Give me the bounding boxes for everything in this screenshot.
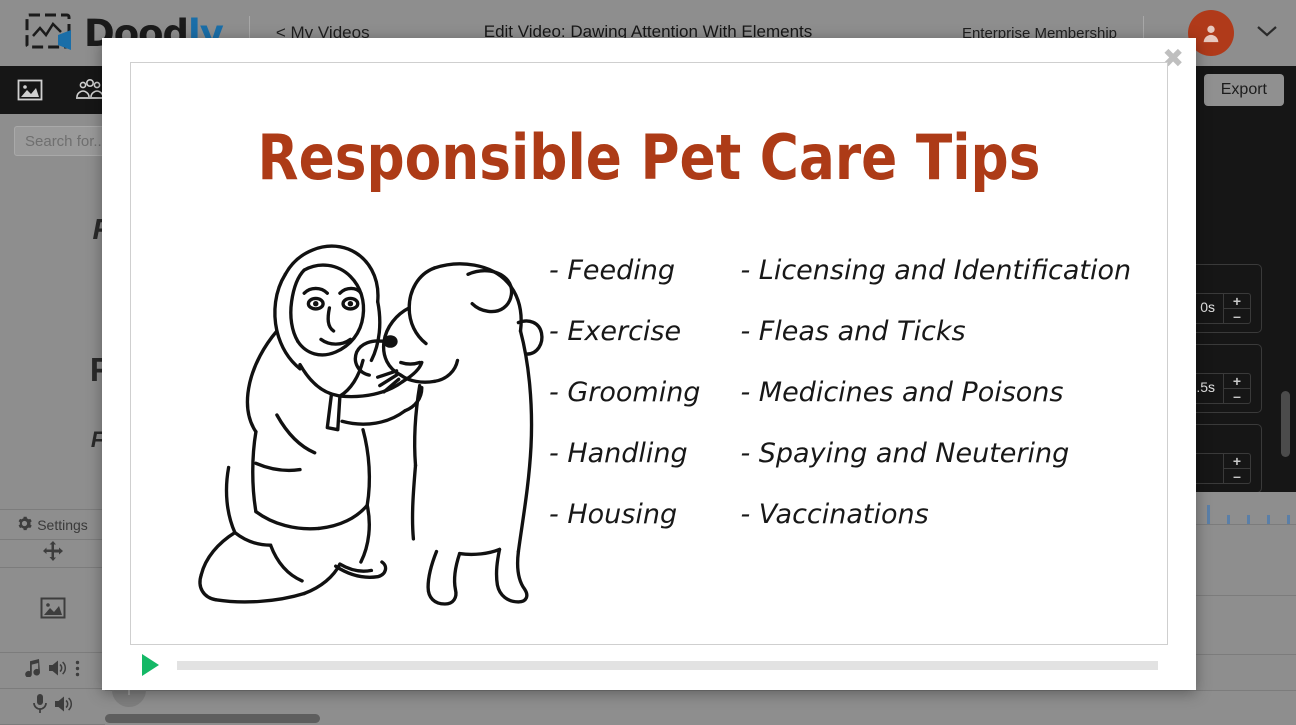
slide-title: Responsible Pet Care Tips xyxy=(204,121,1095,194)
settings-label: Settings xyxy=(37,517,88,533)
move-handle[interactable] xyxy=(0,540,105,568)
list-item: - Housing xyxy=(549,499,700,530)
list-item: - Grooming xyxy=(549,377,700,408)
music-track-row[interactable] xyxy=(0,653,105,689)
stepper-buttons: + – xyxy=(1223,373,1251,404)
preview-modal: ✖ Responsible Pet Care Tips xyxy=(102,38,1196,690)
export-button[interactable]: Export xyxy=(1204,74,1284,106)
chevron-down-icon[interactable] xyxy=(1256,24,1278,43)
move-arrows-icon xyxy=(43,541,63,566)
ruler-tick xyxy=(1227,515,1230,524)
increment-button[interactable]: + xyxy=(1223,453,1251,468)
ruler-tick xyxy=(1207,505,1210,524)
tips-lists: - Feeding - Exercise - Grooming - Handli… xyxy=(549,255,1157,530)
list-item: - Feeding xyxy=(549,255,700,286)
list-item: - Vaccinations xyxy=(740,499,1131,530)
panel-scrollbar[interactable] xyxy=(1281,391,1290,457)
increment-button[interactable]: + xyxy=(1223,373,1251,388)
image-icon xyxy=(40,597,66,624)
stepper-buttons: + – xyxy=(1223,453,1251,484)
list-item: - Spaying and Neutering xyxy=(740,438,1131,469)
more-options-icon[interactable] xyxy=(75,660,80,682)
ruler-tick xyxy=(1247,515,1250,524)
decrement-button[interactable]: – xyxy=(1223,468,1251,484)
stepper-buttons: + – xyxy=(1223,293,1251,324)
progress-bar[interactable] xyxy=(177,661,1158,670)
tips-right-column: - Licensing and Identification - Fleas a… xyxy=(740,255,1131,530)
tips-left-column: - Feeding - Exercise - Grooming - Handli… xyxy=(549,255,700,530)
slide-canvas: Responsible Pet Care Tips xyxy=(130,62,1168,645)
track-controls: Settings xyxy=(0,509,105,725)
woman-hugging-dog-line-art xyxy=(153,205,573,625)
list-item: - Handling xyxy=(549,438,700,469)
volume-icon[interactable] xyxy=(55,696,73,717)
volume-icon[interactable] xyxy=(49,660,67,681)
voiceover-track-row[interactable] xyxy=(0,689,105,725)
ruler-tick xyxy=(1267,515,1270,524)
increment-button[interactable]: + xyxy=(1223,293,1251,308)
app-root: Doodly < My Videos Edit Video: Dawing At… xyxy=(0,0,1296,725)
playback-controls xyxy=(130,654,1168,676)
list-item: - Licensing and Identification xyxy=(740,255,1131,286)
microphone-icon xyxy=(33,694,47,719)
decrement-button[interactable]: – xyxy=(1223,388,1251,404)
image-track-row[interactable] xyxy=(0,568,105,653)
music-note-icon xyxy=(25,659,41,682)
play-icon[interactable] xyxy=(142,654,159,676)
list-item: - Fleas and Ticks xyxy=(740,316,1131,347)
whiteboard-logo-icon xyxy=(24,12,78,54)
gear-icon xyxy=(17,516,32,534)
image-icon[interactable] xyxy=(0,66,60,114)
horizontal-scrollbar[interactable] xyxy=(105,714,320,723)
list-item: - Exercise xyxy=(549,316,700,347)
ruler-tick xyxy=(1287,515,1290,524)
decrement-button[interactable]: – xyxy=(1223,308,1251,324)
list-item: - Medicines and Poisons xyxy=(740,377,1131,408)
settings-button[interactable]: Settings xyxy=(0,510,105,540)
